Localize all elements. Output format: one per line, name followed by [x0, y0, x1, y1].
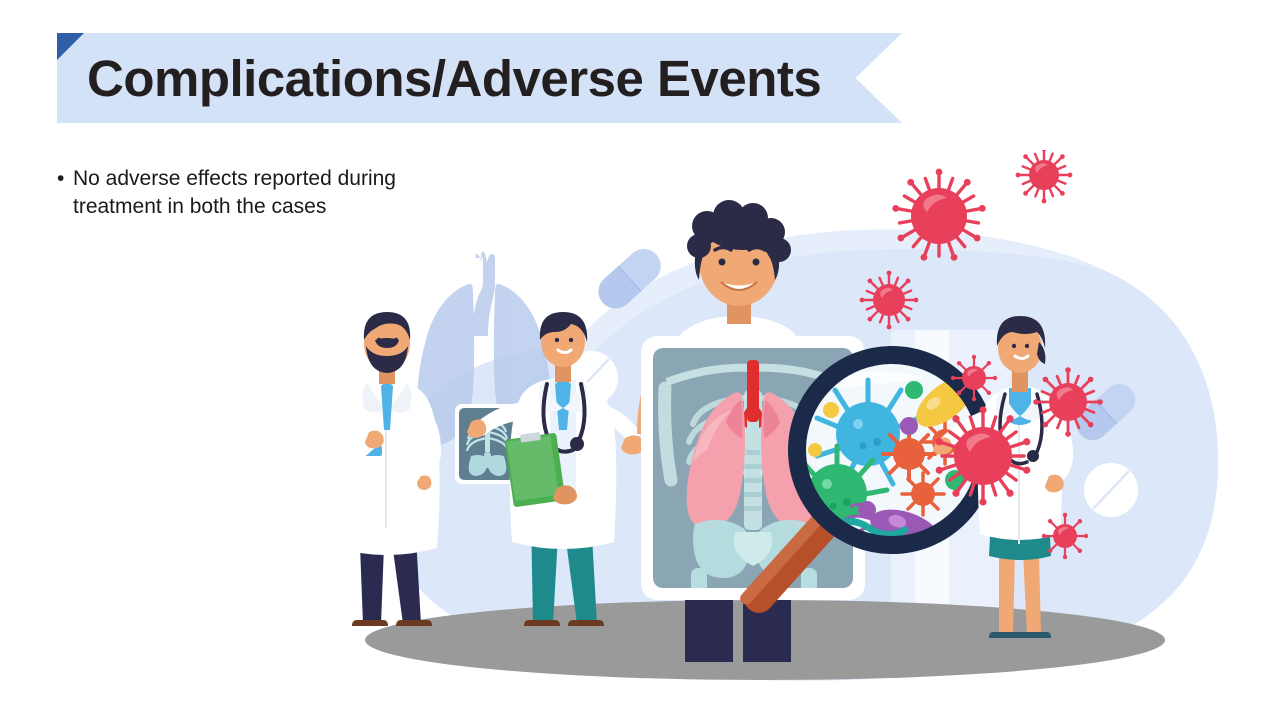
- virus-particle: [1033, 367, 1103, 437]
- medical-illustration: [255, 150, 1265, 710]
- slide-canvas: Complications/Adverse Events • No advers…: [0, 0, 1280, 720]
- virus-particle: [951, 355, 997, 401]
- tablet-pill-right-icon: [1084, 463, 1138, 517]
- bullet-marker-icon: •: [57, 165, 73, 193]
- virus-particle: [1016, 150, 1073, 203]
- banner-corner-fold-icon: [57, 33, 84, 60]
- page-title: Complications/Adverse Events: [87, 33, 821, 123]
- virus-particle: [1042, 513, 1088, 559]
- virus-particle: [860, 271, 919, 330]
- title-banner: Complications/Adverse Events: [57, 33, 902, 123]
